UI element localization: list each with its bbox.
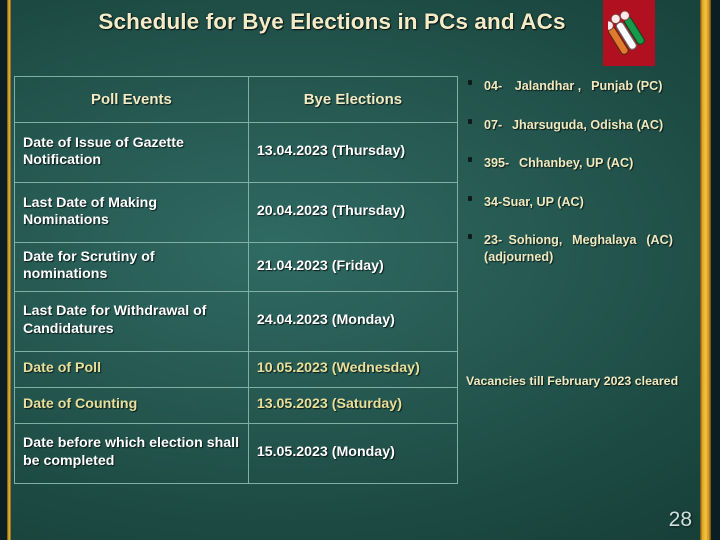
cell-event: Date of Counting bbox=[15, 387, 249, 423]
vacancies-note-text: Vacancies till February 2023 cleared bbox=[466, 374, 678, 388]
table-row-date-of-poll: Date of Poll 10.05.2023 (Wednesday) bbox=[15, 351, 458, 387]
constituency-list: 04- Jalandhar , Punjab (PC) 07- Jharsugu… bbox=[464, 78, 700, 288]
cell-event: Date for Scrutiny of nominations bbox=[15, 243, 249, 292]
table-row: Date for Scrutiny of nominations 21.04.2… bbox=[15, 243, 458, 292]
cell-event: Date of Issue of Gazette Notification bbox=[15, 123, 249, 183]
table-row: Date before which election shall be comp… bbox=[15, 423, 458, 483]
list-item: 34-Suar, UP (AC) bbox=[464, 194, 700, 211]
cell-date: 20.04.2023 (Thursday) bbox=[248, 183, 457, 243]
list-item-label: 23- Sohiong, Meghalaya (AC) (adjourned) bbox=[484, 233, 673, 264]
cell-date: 15.05.2023 (Monday) bbox=[248, 423, 457, 483]
column-header-bye-elections: Bye Elections bbox=[248, 77, 457, 123]
table-header-row: Poll Events Bye Elections bbox=[15, 77, 458, 123]
list-item: 04- Jalandhar , Punjab (PC) bbox=[464, 78, 700, 95]
slide-canvas: Schedule for Bye Elections in PCs and AC… bbox=[0, 0, 720, 540]
bullet-icon bbox=[468, 196, 472, 201]
gold-rail-left bbox=[7, 0, 11, 540]
list-item: 07- Jharsuguda, Odisha (AC) bbox=[464, 117, 700, 134]
list-item: 23- Sohiong, Meghalaya (AC) (adjourned) bbox=[464, 232, 700, 265]
cell-date: 24.04.2023 (Monday) bbox=[248, 291, 457, 351]
table-row: Date of Issue of Gazette Notification 13… bbox=[15, 123, 458, 183]
cell-date: 13.05.2023 (Saturday) bbox=[248, 387, 457, 423]
cell-date: 13.04.2023 (Thursday) bbox=[248, 123, 457, 183]
bullet-icon bbox=[468, 157, 472, 162]
list-item: 395- Chhanbey, UP (AC) bbox=[464, 155, 700, 172]
frame-left-edge bbox=[0, 0, 7, 540]
cell-date: 10.05.2023 (Wednesday) bbox=[248, 351, 457, 387]
column-header-poll-events: Poll Events bbox=[15, 77, 249, 123]
list-item-label: 395- Chhanbey, UP (AC) bbox=[484, 156, 633, 170]
cell-date: 21.04.2023 (Friday) bbox=[248, 243, 457, 292]
cell-event: Date of Poll bbox=[15, 351, 249, 387]
page-title: Schedule for Bye Elections in PCs and AC… bbox=[52, 9, 612, 35]
list-item-label: 04- Jalandhar , Punjab (PC) bbox=[484, 79, 662, 93]
table-row: Last Date for Withdrawal of Candidatures… bbox=[15, 291, 458, 351]
cell-event: Last Date of Making Nominations bbox=[15, 183, 249, 243]
gold-rail-right bbox=[700, 0, 711, 540]
vacancies-note: Vacancies till February 2023 cleared bbox=[466, 372, 688, 391]
bullet-icon bbox=[468, 234, 472, 239]
bullet-icon bbox=[468, 119, 472, 124]
eci-logo-icon bbox=[608, 7, 650, 59]
eci-logo bbox=[603, 0, 655, 66]
list-item-label: 34-Suar, UP (AC) bbox=[484, 195, 584, 209]
cell-event: Date before which election shall be comp… bbox=[15, 423, 249, 483]
cell-event: Last Date for Withdrawal of Candidatures bbox=[15, 291, 249, 351]
frame-right-edge bbox=[711, 0, 720, 540]
table-row: Last Date of Making Nominations 20.04.20… bbox=[15, 183, 458, 243]
list-item-label: 07- Jharsuguda, Odisha (AC) bbox=[484, 118, 663, 132]
bullet-icon bbox=[468, 80, 472, 85]
table-row-date-of-counting: Date of Counting 13.05.2023 (Saturday) bbox=[15, 387, 458, 423]
schedule-table: Poll Events Bye Elections Date of Issue … bbox=[14, 76, 458, 484]
page-number: 28 bbox=[669, 508, 692, 532]
